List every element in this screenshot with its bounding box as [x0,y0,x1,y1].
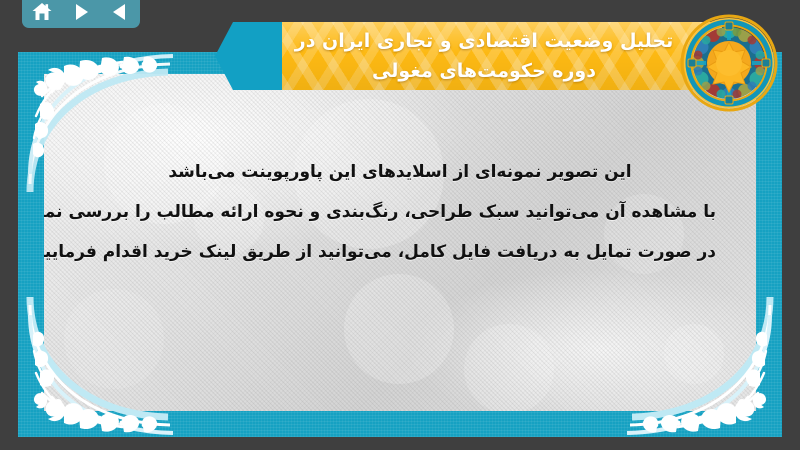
slide-stage: این تصویر نمونه‌ای از اسلایدهای این پاور… [0,0,800,450]
bokeh-circle [64,289,164,389]
bokeh-circle [664,324,724,384]
next-button[interactable] [68,0,94,24]
bokeh-circle [344,274,454,384]
previous-button[interactable] [107,0,133,24]
body-line-1: این تصویر نمونه‌ای از اسلایدهای این پاور… [84,152,716,192]
body-text-block: این تصویر نمونه‌ای از اسلایدهای این پاور… [84,152,716,272]
slide-frame: این تصویر نمونه‌ای از اسلایدهای این پاور… [18,52,782,437]
bokeh-circle [464,324,554,411]
slide-content-panel: این تصویر نمونه‌ای از اسلایدهای این پاور… [44,74,756,411]
page-title: تحلیل وضعیت اقتصادی و تجاری ایران در دور… [282,22,722,86]
title-line-1: تحلیل وضعیت اقتصادی و تجاری ایران در [292,26,676,56]
persian-medallion-icon [680,14,778,112]
title-line-2: دوره حکومت‌های مغولی [292,56,676,86]
home-button[interactable] [29,0,55,24]
body-line-2: با مشاهده آن می‌توانید سبک طراحی، رنگ‌بن… [84,192,716,232]
navigation-toolbar [22,0,140,28]
teal-pennant-icon [215,22,287,90]
slide-title-banner: تحلیل وضعیت اقتصادی و تجاری ایران در دور… [282,22,722,90]
body-line-3: در صورت تمایل به دریافت فایل کامل، می‌تو… [84,232,716,272]
